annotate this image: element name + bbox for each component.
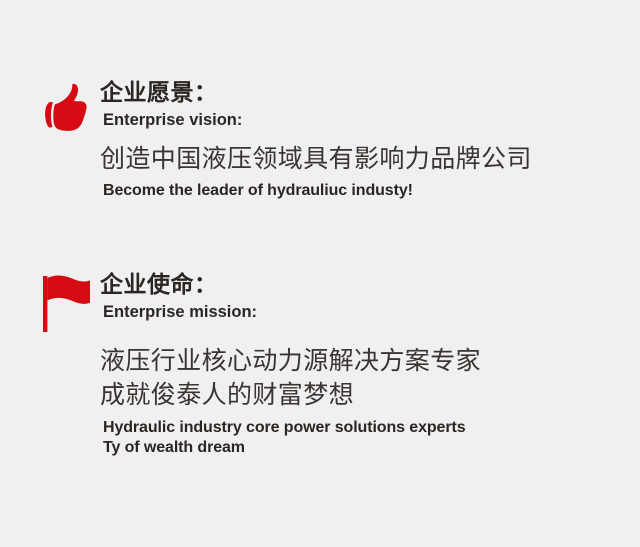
mission-body-cn-line-1: 液压行业核心动力源解决方案专家: [100, 345, 481, 378]
mission-text-group: 企业使命： Enterprise mission: 液压行业核心动力源解决方案专…: [100, 270, 481, 459]
mission-body-cn-group: 液压行业核心动力源解决方案专家 成就俊泰人的财富梦想: [100, 345, 481, 412]
vision-section: 企业愿景： Enterprise vision: 创造中国液压领域具有影响力品牌…: [44, 78, 532, 201]
vision-text-group: 企业愿景： Enterprise vision: 创造中国液压领域具有影响力品牌…: [100, 78, 532, 201]
mission-body-cn-line-2: 成就俊泰人的财富梦想: [100, 379, 481, 412]
thumbs-up-icon: [44, 78, 100, 136]
vision-heading-cn: 企业愿景：: [100, 78, 532, 106]
mission-body-en-line-1: Hydraulic industry core power solutions …: [100, 418, 481, 438]
flag-icon: [38, 270, 100, 334]
vision-body-cn-line-1: 创造中国液压领域具有影响力品牌公司: [100, 143, 532, 176]
mission-heading-en: Enterprise mission:: [100, 302, 481, 323]
mission-body-en-group: Hydraulic industry core power solutions …: [100, 418, 481, 459]
mission-heading-cn: 企业使命：: [100, 270, 481, 298]
mission-section: 企业使命： Enterprise mission: 液压行业核心动力源解决方案专…: [38, 270, 481, 459]
mission-body-en-line-2: Ty of wealth dream: [100, 438, 481, 458]
vision-body-en-line-1: Become the leader of hydrauliuc industy!: [100, 181, 532, 201]
slide-canvas: 企业愿景： Enterprise vision: 创造中国液压领域具有影响力品牌…: [0, 0, 640, 547]
vision-heading-en: Enterprise vision:: [100, 110, 532, 131]
